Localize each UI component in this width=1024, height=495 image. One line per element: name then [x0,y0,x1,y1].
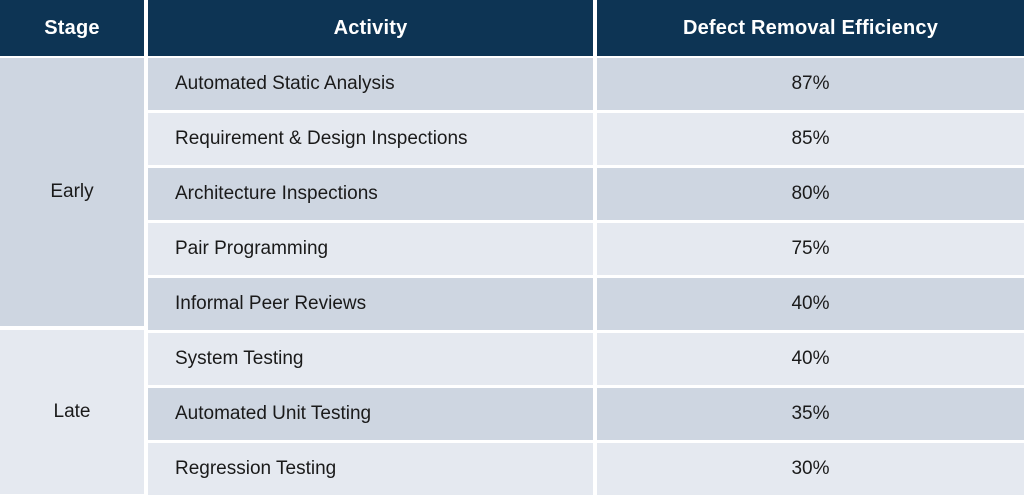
column-header-defect-removal-efficiency: Defect Removal Efficiency [597,0,1024,56]
cell-activity: Pair Programming [148,223,593,275]
stage-column: Early Late [0,56,144,494]
table-row: Pair Programming 75% [148,223,1024,275]
cell-defect-removal-efficiency: 35% [597,388,1024,440]
cell-defect-removal-efficiency: 40% [597,333,1024,385]
cell-defect-removal-efficiency: 80% [597,168,1024,220]
cell-activity: Requirement & Design Inspections [148,113,593,165]
column-header-stage: Stage [0,0,144,56]
data-rows: Automated Static Analysis 87% Requiremen… [148,56,1024,494]
table-header-row: Stage Activity Defect Removal Efficiency [0,0,1024,56]
cell-activity: Regression Testing [148,443,593,495]
cell-defect-removal-efficiency: 87% [597,58,1024,110]
cell-defect-removal-efficiency: 85% [597,113,1024,165]
cell-activity: Automated Static Analysis [148,58,593,110]
cell-defect-removal-efficiency: 40% [597,278,1024,330]
column-header-activity: Activity [148,0,593,56]
cell-defect-removal-efficiency: 30% [597,443,1024,495]
cell-defect-removal-efficiency: 75% [597,223,1024,275]
cell-activity: Architecture Inspections [148,168,593,220]
stage-group-early: Early [0,58,144,326]
defect-removal-efficiency-table: Stage Activity Defect Removal Efficiency… [0,0,1024,494]
table-row: Requirement & Design Inspections 85% [148,113,1024,165]
table-row: Informal Peer Reviews 40% [148,278,1024,330]
cell-activity: Informal Peer Reviews [148,278,593,330]
table-row: Architecture Inspections 80% [148,168,1024,220]
table-row: Automated Unit Testing 35% [148,388,1024,440]
table-row: Regression Testing 30% [148,443,1024,495]
table-row: Automated Static Analysis 87% [148,58,1024,110]
table-row: System Testing 40% [148,333,1024,385]
cell-activity: Automated Unit Testing [148,388,593,440]
stage-group-late: Late [0,330,144,494]
table-body: Early Late Automated Static Analysis 87%… [0,56,1024,494]
cell-activity: System Testing [148,333,593,385]
